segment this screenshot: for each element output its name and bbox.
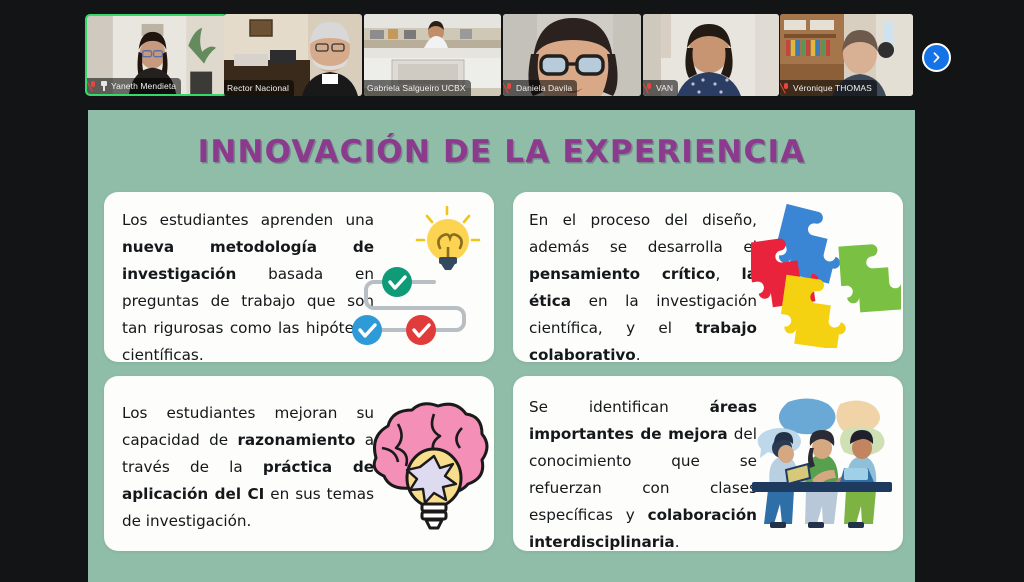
participant-name-text-4: Daniela Davila	[516, 83, 572, 93]
participant-name-label-5: VAN	[643, 80, 678, 96]
team-collaboration-illustration	[744, 386, 899, 541]
lightbulb-flowchart-illustration	[350, 200, 490, 355]
video-participant-strip: Yaneth Mendieta Rector Nacional	[0, 0, 1024, 110]
next-page-button[interactable]	[922, 43, 951, 72]
mic-muted-icon	[506, 83, 513, 93]
participant-name-label-3: Gabriela Salgueiro UCBX	[364, 80, 471, 96]
brain-lightbulb-illustration	[338, 394, 494, 534]
card-3-text: Los estudiantes mejoran su capacidad de …	[122, 400, 374, 535]
mic-muted-icon	[646, 83, 653, 93]
content-card-4: Se identifican áreas importantes de mejo…	[513, 376, 903, 551]
participant-name-text-1: Yaneth Mendieta	[111, 81, 176, 91]
participant-name-text-2: Rector Nacional	[227, 83, 289, 93]
page-title: INNOVACIÓN DE LA EXPERIENCIA	[88, 134, 915, 170]
mic-muted-icon	[90, 81, 97, 91]
card-1-text: Los estudiantes aprenden una nueva metod…	[122, 207, 374, 362]
mic-muted-icon	[783, 83, 790, 93]
card-2-text: En el proceso del diseño, además se desa…	[529, 207, 757, 362]
video-tile-participant-4[interactable]: Daniela Davila	[503, 14, 641, 96]
participant-name-label-1: Yaneth Mendieta	[87, 78, 181, 94]
video-tile-participant-3[interactable]: Gabriela Salgueiro UCBX	[364, 14, 501, 96]
participant-name-label-4: Daniela Davila	[503, 80, 577, 96]
participant-name-text-5: VAN	[656, 83, 673, 93]
card-4-text: Se identifican áreas importantes de mejo…	[529, 394, 757, 551]
presentation-slide: INNOVACIÓN DE LA EXPERIENCIA Los estudia…	[88, 110, 915, 575]
participant-name-text-6: Véronique THOMAS	[793, 83, 872, 93]
participant-name-text-3: Gabriela Salgueiro UCBX	[367, 83, 466, 93]
pin-icon	[100, 81, 108, 91]
chevron-right-icon	[930, 51, 943, 64]
content-card-3: Los estudiantes mejoran su capacidad de …	[104, 376, 494, 551]
participant-name-label-6: Véronique THOMAS	[780, 80, 877, 96]
video-tile-participant-6[interactable]: Véronique THOMAS	[780, 14, 913, 96]
video-tile-participant-2[interactable]: Rector Nacional	[224, 14, 362, 96]
content-card-1: Los estudiantes aprenden una nueva metod…	[104, 192, 494, 362]
slide-bottom-edge	[88, 575, 915, 582]
participant-name-label-2: Rector Nacional	[224, 80, 294, 96]
video-tile-participant-5[interactable]: VAN	[643, 14, 779, 96]
content-card-2: En el proceso del diseño, además se desa…	[513, 192, 903, 362]
puzzle-pieces-illustration	[751, 198, 901, 348]
video-tile-participant-1[interactable]: Yaneth Mendieta	[85, 14, 228, 96]
